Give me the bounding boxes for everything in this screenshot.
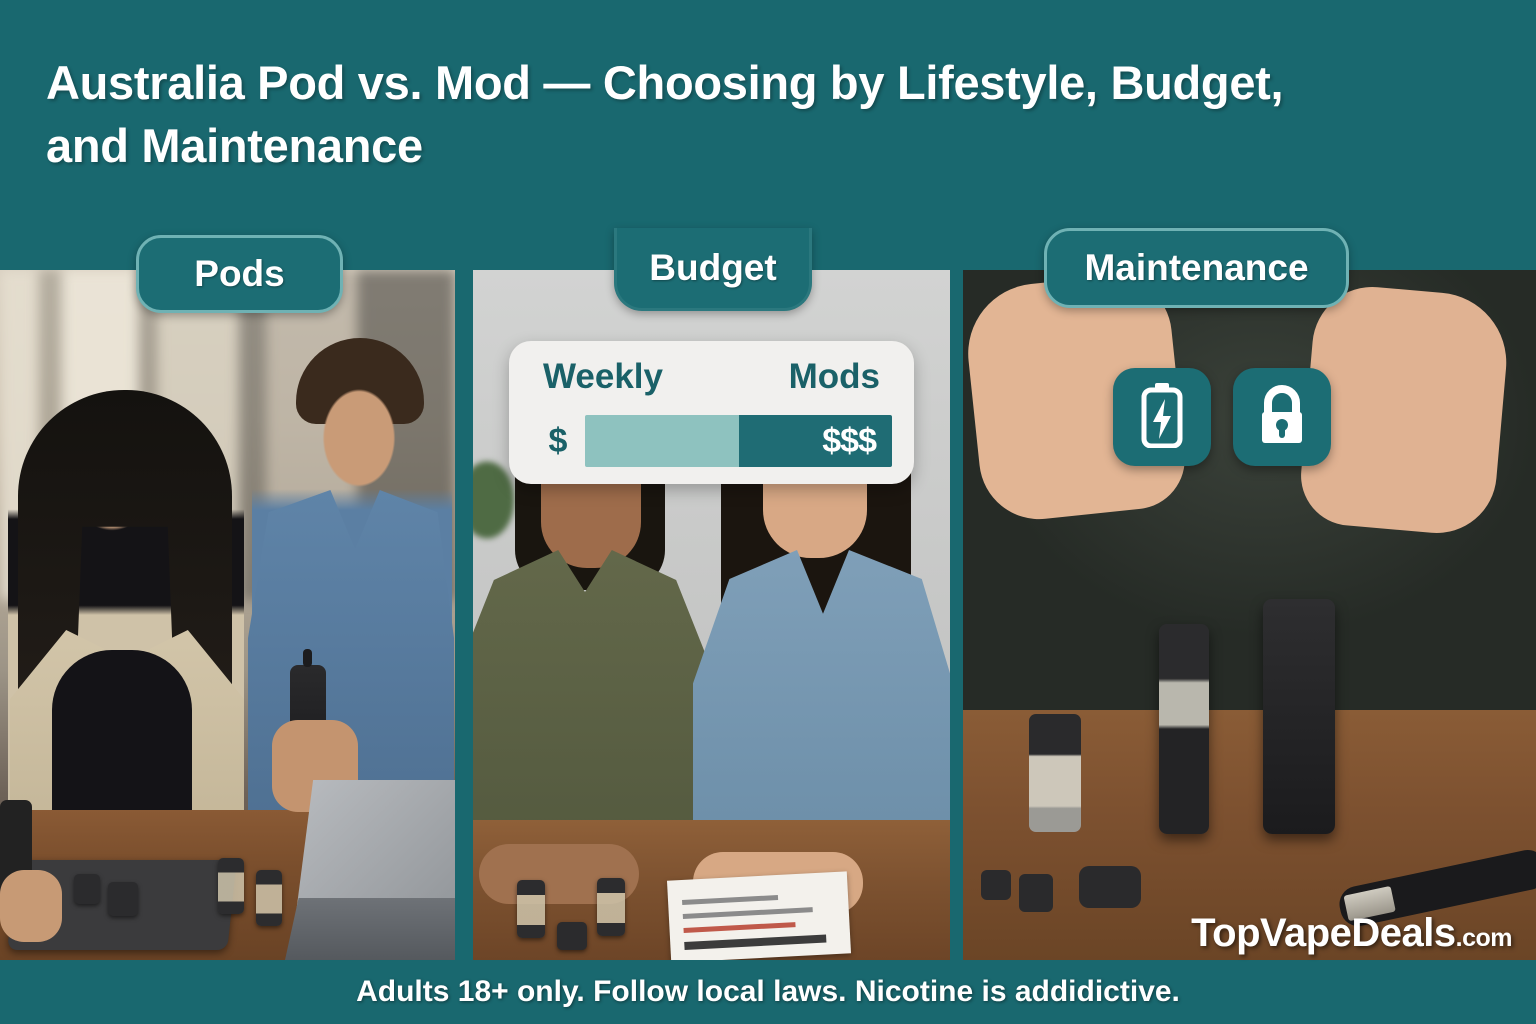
- budget-card-labels: Weekly Mods: [509, 357, 914, 397]
- footer-disclaimer-bar: Adults 18+ only. Follow local laws. Nico…: [0, 960, 1536, 1024]
- header: Australia Pod vs. Mod — Choosing by Life…: [0, 52, 1536, 177]
- watermark: TopVapeDeals .com: [1191, 911, 1512, 956]
- pod-cartridge: [218, 858, 244, 914]
- badge-maintenance[interactable]: Maintenance: [1044, 228, 1349, 308]
- woman-hand: [0, 870, 62, 942]
- footer-disclaimer-text: Adults 18+ only. Follow local laws. Nico…: [356, 975, 1180, 1009]
- badge-pods[interactable]: Pods: [136, 235, 343, 313]
- budget-right-label: Mods: [789, 357, 880, 397]
- lock-icon: [1254, 383, 1310, 452]
- pod-cap: [108, 882, 138, 916]
- man-face: [300, 356, 418, 504]
- budget-bar-row: $ $$$: [509, 413, 914, 469]
- spend-bar: $$$: [585, 415, 892, 467]
- budget-comparison-card[interactable]: Weekly Mods $ $$$: [509, 341, 914, 484]
- spend-bar-value-label: $$$: [822, 422, 876, 461]
- laptop-keyboard: [285, 898, 455, 960]
- badge-budget-label: Budget: [649, 247, 776, 289]
- pod-cartridge: [597, 878, 625, 936]
- lock-tile[interactable]: [1233, 368, 1331, 466]
- pods-panel[interactable]: [0, 270, 455, 960]
- battery-charging-icon: [1140, 382, 1184, 453]
- badge-maintenance-label: Maintenance: [1084, 247, 1308, 289]
- coil-cap: [981, 870, 1011, 900]
- spend-bar-segment-weekly: [585, 415, 739, 467]
- pod-cartridge: [517, 880, 545, 938]
- battery-charging-tile[interactable]: [1113, 368, 1211, 466]
- page-title: Australia Pod vs. Mod — Choosing by Life…: [46, 52, 1336, 177]
- pods-photo: [0, 270, 455, 960]
- coil-assembly: [1079, 866, 1141, 908]
- pod-cap: [74, 874, 100, 904]
- budget-axis-label: $: [531, 422, 585, 461]
- watermark-tld: .com: [1456, 924, 1512, 953]
- maintenance-icon-group: [1113, 368, 1331, 466]
- pod-cap: [557, 922, 587, 950]
- pod-cartridge: [1029, 714, 1081, 832]
- coil-cap: [1019, 874, 1053, 912]
- budget-document: [667, 871, 851, 960]
- pod-cartridge: [256, 870, 282, 926]
- panel-divider: [950, 270, 963, 960]
- panel-divider: [455, 270, 473, 960]
- mod-device: [1263, 599, 1335, 834]
- watermark-brand: TopVapeDeals: [1191, 911, 1455, 956]
- spend-bar-segment-mods: $$$: [739, 415, 893, 467]
- badge-budget[interactable]: Budget: [614, 228, 812, 311]
- tank-atomizer: [1159, 624, 1209, 834]
- badge-pods-label: Pods: [194, 253, 284, 295]
- budget-left-label: Weekly: [543, 357, 663, 397]
